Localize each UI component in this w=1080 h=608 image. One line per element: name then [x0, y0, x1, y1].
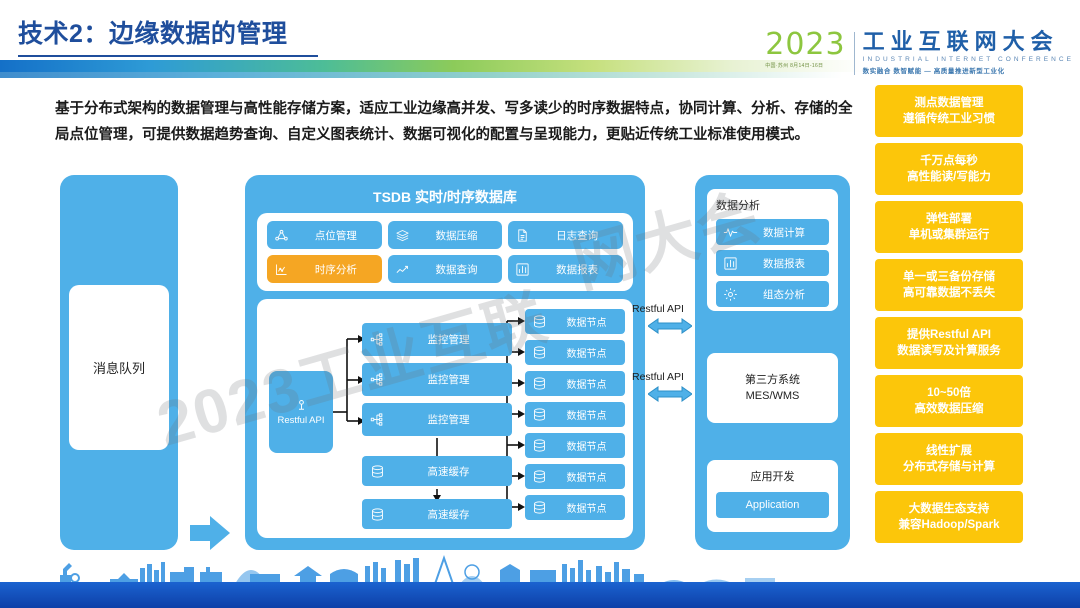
line-chart-icon: [274, 262, 289, 277]
pulse-icon: [723, 225, 738, 240]
lead-paragraph: 基于分布式架构的数据管理与高性能存储方案，适应工业边缘高并发、写多读少的时序数据…: [55, 96, 855, 148]
tree-node-icon: [370, 332, 385, 347]
database-icon: [532, 500, 547, 515]
feature-line2: 分布式存储与计算: [903, 459, 995, 475]
monitor-box-1[interactable]: 监控管理: [362, 363, 512, 396]
data-node-4[interactable]: 数据节点: [525, 433, 625, 458]
title-underline: [18, 55, 318, 57]
point-management-icon: [274, 228, 289, 243]
trend-icon: [395, 262, 410, 277]
feature-card-6: 线性扩展分布式存储与计算: [875, 433, 1023, 485]
data-node-2[interactable]: 数据节点: [525, 371, 625, 396]
database-icon: [532, 438, 547, 453]
database-icon: [532, 345, 547, 360]
monitor-box-label: 监控管理: [391, 332, 512, 347]
database-icon: [532, 469, 547, 484]
feature-line1: 提供Restful API: [907, 327, 991, 343]
feature-line2: 遵循传统工业习惯: [903, 111, 995, 127]
data-node-label: 数据节点: [553, 407, 625, 422]
data-node-3[interactable]: 数据节点: [525, 402, 625, 427]
tsdb-core-body: Restful API 监控管理监控管理监控管理 高速缓存高速缓存 数据节点数据…: [257, 299, 633, 538]
flow-arrow-shaft: [190, 525, 212, 541]
analysis-button-label: 组态分析: [744, 287, 829, 302]
feature-line2: 高效数据压缩: [915, 401, 984, 417]
logo-divider: [854, 32, 855, 75]
data-analysis-buttons: 数据计算数据报表组态分析: [716, 219, 829, 307]
data-node-6[interactable]: 数据节点: [525, 495, 625, 520]
cache-box-1[interactable]: 高速缓存: [362, 499, 512, 529]
data-node-0[interactable]: 数据节点: [525, 309, 625, 334]
feature-card-2: 弹性部署单机或集群运行: [875, 201, 1023, 253]
database-icon: [532, 314, 547, 329]
tsdb-button-4[interactable]: 数据查询: [388, 255, 503, 283]
logo-english-name: INDUSTRIAL INTERNET CONFERENCE: [863, 56, 1074, 63]
monitor-box-2[interactable]: 监控管理: [362, 403, 512, 436]
message-queue-card: 消息队列: [69, 285, 169, 450]
data-node-label: 数据节点: [553, 469, 625, 484]
analysis-button-label: 数据计算: [744, 225, 829, 240]
data-analysis-title: 数据分析: [716, 197, 829, 213]
feature-line1: 测点数据管理: [915, 95, 984, 111]
restful-api-arrow-top: [648, 318, 692, 334]
tsdb-button-5[interactable]: 数据报表: [508, 255, 623, 283]
third-party-system-card: 第三方系统 MES/WMS: [707, 353, 838, 423]
data-node-1[interactable]: 数据节点: [525, 340, 625, 365]
app-development-title: 应用开发: [751, 468, 795, 484]
feature-line2: 高性能读/写能力: [907, 169, 991, 185]
data-analysis-card: 数据分析 数据计算数据报表组态分析: [707, 189, 838, 311]
feature-card-0: 测点数据管理遵循传统工业习惯: [875, 85, 1023, 137]
document-icon: [515, 228, 530, 243]
application-button[interactable]: Application: [716, 492, 829, 518]
restful-api-box-label: Restful API: [278, 415, 325, 426]
analysis-button-0[interactable]: 数据计算: [716, 219, 829, 245]
data-node-label: 数据节点: [553, 314, 625, 329]
monitor-box-label: 监控管理: [391, 412, 512, 427]
feature-line2: 高可靠数据不丢失: [903, 285, 995, 301]
tsdb-column: TSDB 实时/时序数据库 点位管理数据压缩日志查询时序分析数据查询数据报表: [245, 175, 645, 550]
feature-card-1: 千万点每秒高性能读/写能力: [875, 143, 1023, 195]
feature-line1: 大数据生态支持: [909, 501, 990, 517]
feature-card-4: 提供Restful API数据读写及计算服务: [875, 317, 1023, 369]
third-party-line1: 第三方系统: [745, 372, 800, 388]
bar-chart-icon: [515, 262, 530, 277]
layers-icon: [395, 228, 410, 243]
feature-line1: 单一或三备份存储: [903, 269, 995, 285]
feature-line2: 兼容Hadoop/Spark: [899, 517, 1000, 533]
gear-icon: [723, 287, 738, 302]
tsdb-button-1[interactable]: 数据压缩: [388, 221, 503, 249]
footer-band: [0, 582, 1080, 608]
data-node-label: 数据节点: [553, 345, 625, 360]
message-queue-column: 消息队列: [60, 175, 178, 550]
logo-chinese-name: 工业互联网大会: [863, 30, 1074, 54]
tsdb-button-label: 数据查询: [415, 262, 503, 277]
tsdb-button-label: 点位管理: [294, 228, 382, 243]
tsdb-button-2[interactable]: 日志查询: [508, 221, 623, 249]
cache-box-label: 高速缓存: [391, 507, 512, 522]
tsdb-button-label: 数据压缩: [415, 228, 503, 243]
feature-line1: 千万点每秒: [920, 153, 978, 169]
footer: [0, 556, 1080, 608]
right-services-column: 数据分析 数据计算数据报表组态分析 第三方系统 MES/WMS 应用开发 App…: [695, 175, 850, 550]
database-icon: [532, 407, 547, 422]
data-node-label: 数据节点: [553, 500, 625, 515]
feature-line2: 数据读写及计算服务: [897, 343, 1001, 359]
logo-year-block: 2023 中国·苏州 8月14日-16日: [765, 30, 845, 69]
logo-text-block: 工业互联网大会 INDUSTRIAL INTERNET CONFERENCE 数…: [863, 30, 1074, 75]
tree-node-icon: [370, 412, 385, 427]
tsdb-button-label: 数据报表: [535, 262, 623, 277]
database-icon: [370, 464, 385, 479]
logo-year-subtitle: 中国·苏州 8月14日-16日: [765, 62, 845, 69]
data-node-5[interactable]: 数据节点: [525, 464, 625, 489]
restful-api-arrow-bottom: [648, 386, 692, 402]
feature-line1: 弹性部署: [926, 211, 972, 227]
data-node-label: 数据节点: [553, 376, 625, 391]
logo-year: 2023: [765, 30, 845, 60]
feature-line1: 线性扩展: [926, 443, 972, 459]
tree-node-icon: [370, 372, 385, 387]
api-icon: [294, 398, 309, 413]
feature-line1: 10~50倍: [927, 385, 971, 401]
cache-box-label: 高速缓存: [391, 464, 512, 479]
third-party-line2: MES/WMS: [746, 388, 800, 404]
feature-card-3: 单一或三备份存储高可靠数据不丢失: [875, 259, 1023, 311]
tsdb-button-0[interactable]: 点位管理: [267, 221, 382, 249]
restful-api-label-top: Restful API: [632, 303, 684, 315]
bar-chart-icon: [723, 256, 738, 271]
app-development-card: 应用开发 Application: [707, 460, 838, 532]
monitor-group: 监控管理监控管理监控管理: [362, 323, 512, 443]
city-skyline-graphic: [0, 554, 1080, 584]
database-icon: [370, 507, 385, 522]
cache-box-0[interactable]: 高速缓存: [362, 456, 512, 486]
feature-line2: 单机或集群运行: [909, 227, 990, 243]
data-node-label: 数据节点: [553, 438, 625, 453]
tsdb-button-label: 时序分析: [294, 262, 382, 277]
analysis-button-1[interactable]: 数据报表: [716, 250, 829, 276]
tsdb-feature-grid: 点位管理数据压缩日志查询时序分析数据查询数据报表: [257, 213, 633, 291]
page-title: 技术2：边缘数据的管理: [18, 14, 287, 50]
monitor-box-0[interactable]: 监控管理: [362, 323, 512, 356]
restful-api-box[interactable]: Restful API: [269, 371, 333, 453]
tsdb-title: TSDB 实时/时序数据库: [245, 187, 645, 207]
flow-arrow-head: [210, 516, 230, 550]
monitor-box-label: 监控管理: [391, 372, 512, 387]
feature-list: 测点数据管理遵循传统工业习惯千万点每秒高性能读/写能力弹性部署单机或集群运行单一…: [875, 85, 1023, 549]
database-icon: [532, 376, 547, 391]
analysis-button-2[interactable]: 组态分析: [716, 281, 829, 307]
restful-api-label-bottom: Restful API: [632, 371, 684, 383]
conference-logo: 2023 中国·苏州 8月14日-16日 工业互联网大会 INDUSTRIAL …: [765, 30, 1074, 75]
feature-card-7: 大数据生态支持兼容Hadoop/Spark: [875, 491, 1023, 543]
tsdb-button-label: 日志查询: [535, 228, 623, 243]
feature-card-5: 10~50倍高效数据压缩: [875, 375, 1023, 427]
logo-slogan: 数实融合 数智赋能 — 高质量推进新型工业化: [863, 65, 1074, 75]
tsdb-button-3[interactable]: 时序分析: [267, 255, 382, 283]
analysis-button-label: 数据报表: [744, 256, 829, 271]
data-node-group: 数据节点数据节点数据节点数据节点数据节点数据节点数据节点: [525, 309, 625, 526]
